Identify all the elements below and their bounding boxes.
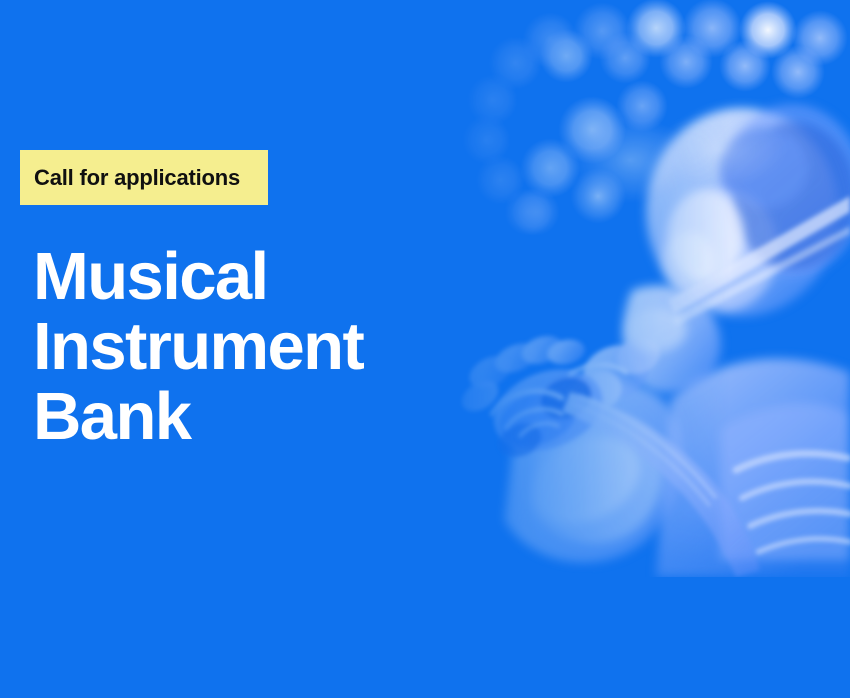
violinist-photo-svg [420, 0, 850, 577]
page-title: Musical Instrument Bank [33, 242, 433, 452]
banner-content: Call for applications Musical Instrument… [0, 0, 430, 698]
headline-line-3: Bank [33, 382, 433, 452]
violinist-photo [420, 0, 850, 577]
badge-label: Call for applications [34, 167, 240, 189]
call-for-applications-badge: Call for applications [20, 150, 268, 205]
headline-line-1: Musical [33, 242, 433, 312]
promotional-banner: Call for applications Musical Instrument… [0, 0, 850, 698]
headline-line-2: Instrument [33, 312, 433, 382]
